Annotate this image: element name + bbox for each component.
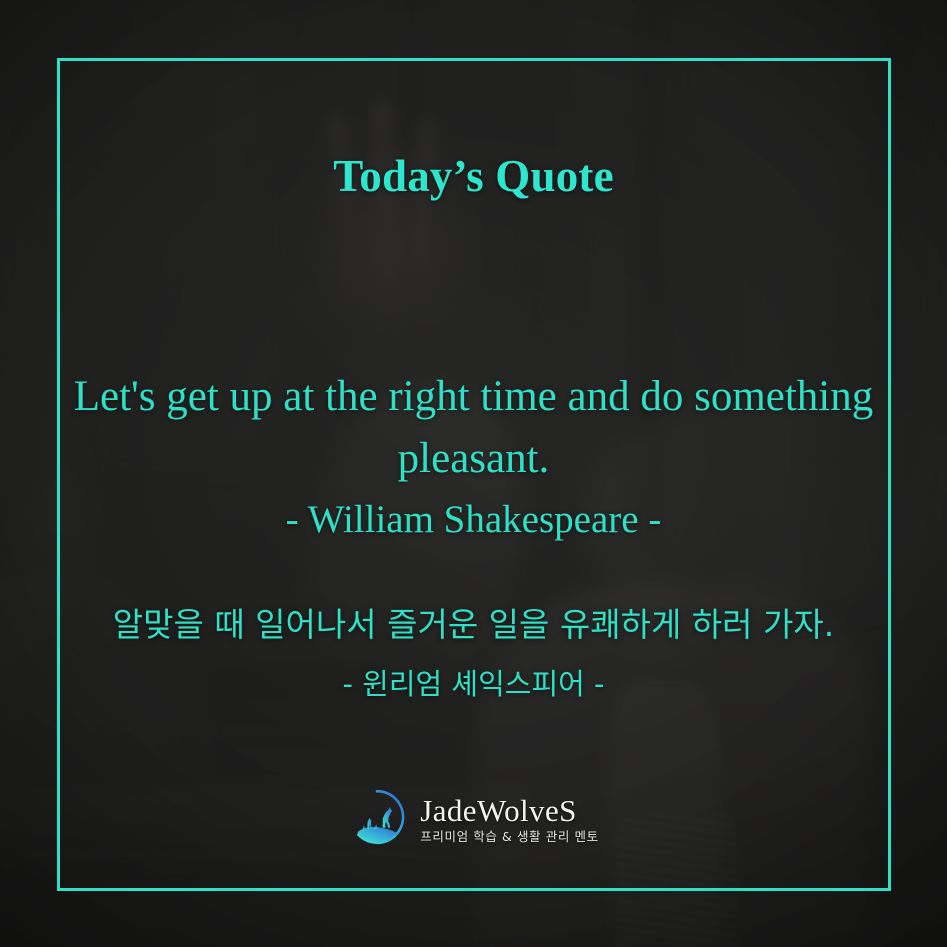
logo-tagline: 프리미엄 학습 & 생활 관리 멘토 [420,831,598,844]
quote-line-2: pleasant. [0,428,947,490]
quote-author: - William Shakespeare - [0,492,947,548]
logo-text-group: JadeWolveS 프리미엄 학습 & 생활 관리 멘토 [420,795,598,844]
brand-logo: JadeWolveS 프리미엄 학습 & 생활 관리 멘토 [0,788,947,851]
translation-block: 알맞을 때 일어나서 즐거운 일을 유쾌하게 하러 가자. - 윈리엄 셰익스피… [0,603,947,705]
quote-block: Let's get up at the right time and do so… [0,366,947,548]
logo-wordmark: JadeWolveS [420,793,576,828]
quote-line-1: Let's get up at the right time and do so… [0,366,947,428]
wolves-circle-emblem-icon [348,788,406,851]
translation-line-1: 알맞을 때 일어나서 즐거운 일을 유쾌하게 하러 가자. [0,603,947,647]
quote-card: Today’s Quote Let's get up at the right … [0,0,947,947]
translation-author: - 윈리엄 셰익스피어 - [0,663,947,705]
page-title: Today’s Quote [0,150,947,202]
